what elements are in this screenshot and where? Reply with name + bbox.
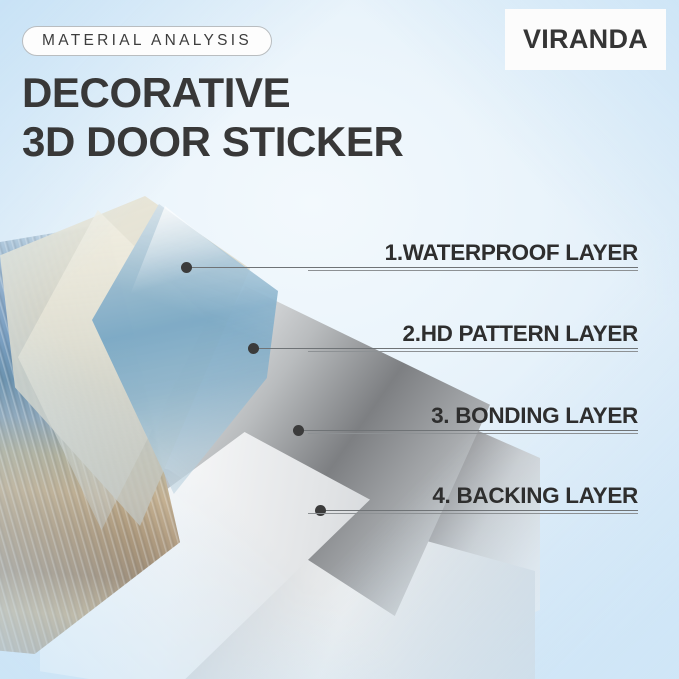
brand-logo: VIRANDA — [505, 9, 666, 70]
callout-rule-2 — [308, 351, 638, 352]
callout-rule-4 — [308, 513, 638, 514]
callout-dot-1 — [181, 262, 192, 273]
page-title-line-2: 3D DOOR STICKER — [22, 117, 452, 166]
callout-rule-3 — [308, 433, 638, 434]
callout-dot-2 — [248, 343, 259, 354]
callout-dot-3 — [293, 425, 304, 436]
callout-label-4: 4. BACKING LAYER — [308, 483, 638, 514]
page-title: DECORATIVE 3D DOOR STICKER — [22, 68, 452, 166]
callout-label-3: 3. BONDING LAYER — [308, 403, 638, 434]
page-title-line-1: DECORATIVE — [22, 68, 452, 117]
callout-label-1: 1.WATERPROOF LAYER — [308, 240, 638, 271]
callout-label-2: 2.HD PATTERN LAYER — [308, 321, 638, 352]
material-analysis-badge-label: MATERIAL ANALYSIS — [42, 32, 252, 50]
callout-label-2-text: 2.HD PATTERN LAYER — [308, 321, 638, 347]
callout-label-3-text: 3. BONDING LAYER — [308, 403, 638, 429]
infographic-canvas: 1.WATERPROOF LAYER 2.HD PATTERN LAYER 3.… — [0, 0, 679, 679]
callout-label-4-text: 4. BACKING LAYER — [308, 483, 638, 509]
callout-rule-1 — [308, 270, 638, 271]
brand-logo-text: VIRANDA — [523, 24, 648, 55]
material-analysis-badge: MATERIAL ANALYSIS — [22, 26, 272, 56]
callout-label-1-text: 1.WATERPROOF LAYER — [308, 240, 638, 266]
